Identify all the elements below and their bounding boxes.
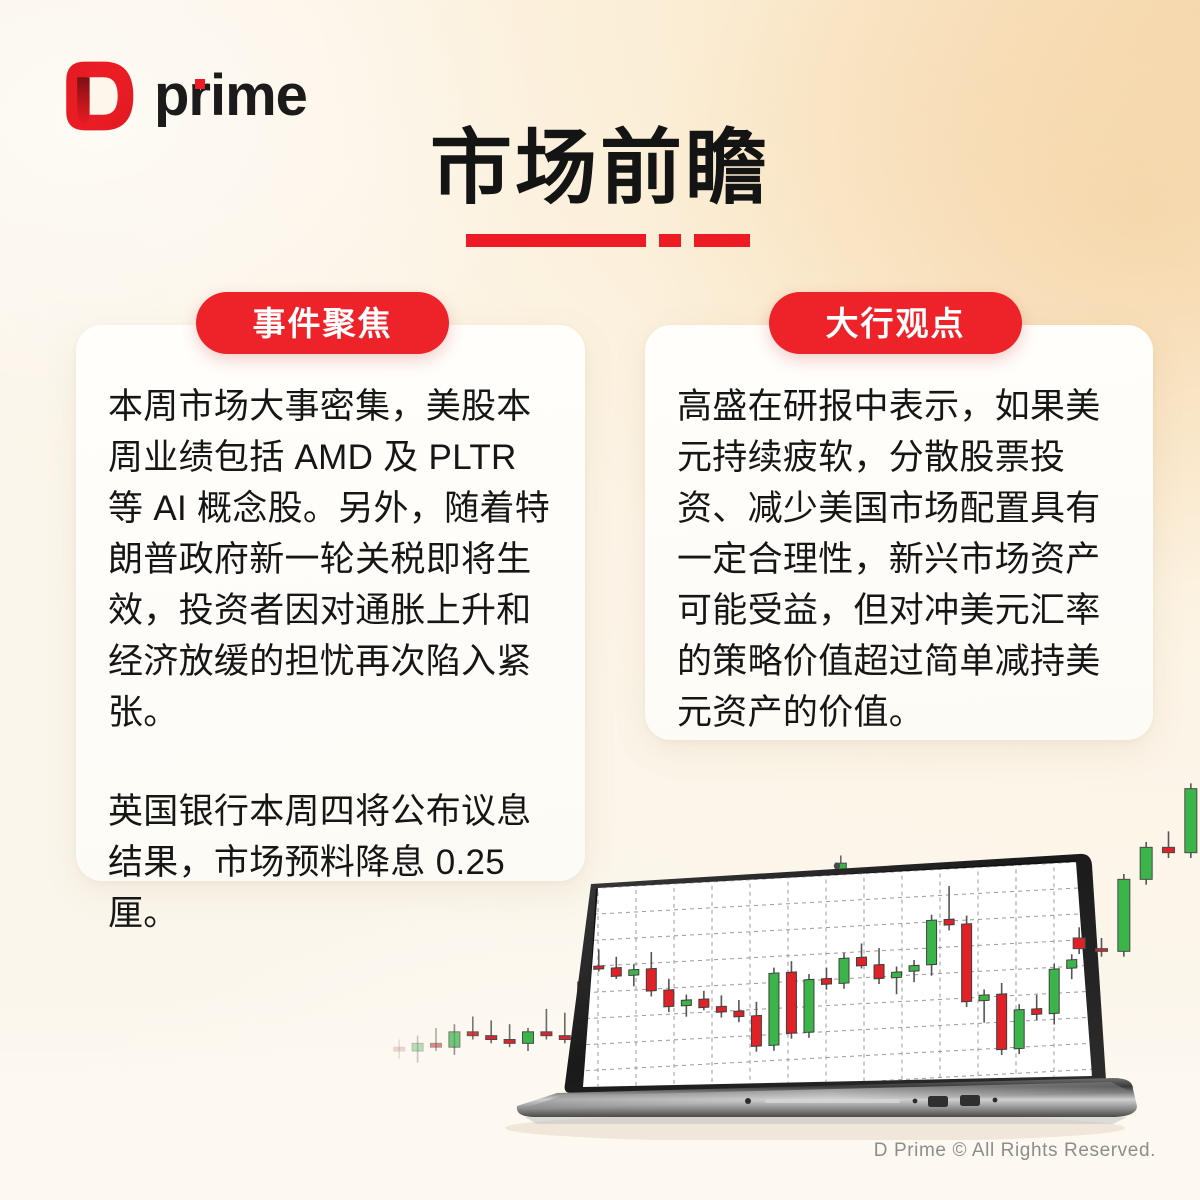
brand-wordmark: prime <box>154 67 307 125</box>
accent-bar-long <box>466 234 646 247</box>
title-accent-rule <box>466 234 750 247</box>
card-bank-views: 高盛在研报中表示，如果美元持续疲软，分散股票投资、减少美国市场配置具有一定合理性… <box>645 325 1153 740</box>
card-event-focus-badge-label: 事件聚焦 <box>253 307 393 340</box>
d-prime-logo-icon <box>60 57 138 135</box>
candlestick-chart-right-icon <box>1062 760 1200 990</box>
card-paragraph: 本周市场大事密集，美股本周业绩包括 AMD 及 PLTR 等 AI 概念股。另外… <box>108 381 555 738</box>
accent-bar-dot <box>659 234 681 247</box>
page-title: 市场前瞻 <box>0 128 1200 210</box>
brand-logo: prime <box>60 57 307 135</box>
brand-wordmark-text: prime <box>154 63 307 128</box>
card-paragraph: 英国银行本周四将公布议息结果，市场预料降息 0.25 厘。 <box>108 786 555 939</box>
card-event-focus-body: 本周市场大事密集，美股本周业绩包括 AMD 及 PLTR 等 AI 概念股。另外… <box>76 381 585 939</box>
poster-canvas: prime 市场前瞻 本周市场大事密集，美股本周业绩包括 AMD 及 PLTR … <box>0 0 1200 1200</box>
card-event-focus-badge: 事件聚焦 <box>196 292 449 354</box>
accent-bar-short <box>694 234 750 247</box>
footer-copyright: D Prime © All Rights Reserved. <box>874 1140 1156 1162</box>
card-bank-views-badge-label: 大行观点 <box>826 307 966 340</box>
prime-i-dot-icon <box>195 79 205 89</box>
card-event-focus: 本周市场大事密集，美股本周业绩包括 AMD 及 PLTR 等 AI 概念股。另外… <box>76 325 585 881</box>
card-bank-views-badge: 大行观点 <box>769 292 1022 354</box>
card-paragraph: 高盛在研报中表示，如果美元持续疲软，分散股票投资、减少美国市场配置具有一定合理性… <box>677 381 1123 738</box>
card-bank-views-body: 高盛在研报中表示，如果美元持续疲软，分散股票投资、减少美国市场配置具有一定合理性… <box>645 381 1153 738</box>
